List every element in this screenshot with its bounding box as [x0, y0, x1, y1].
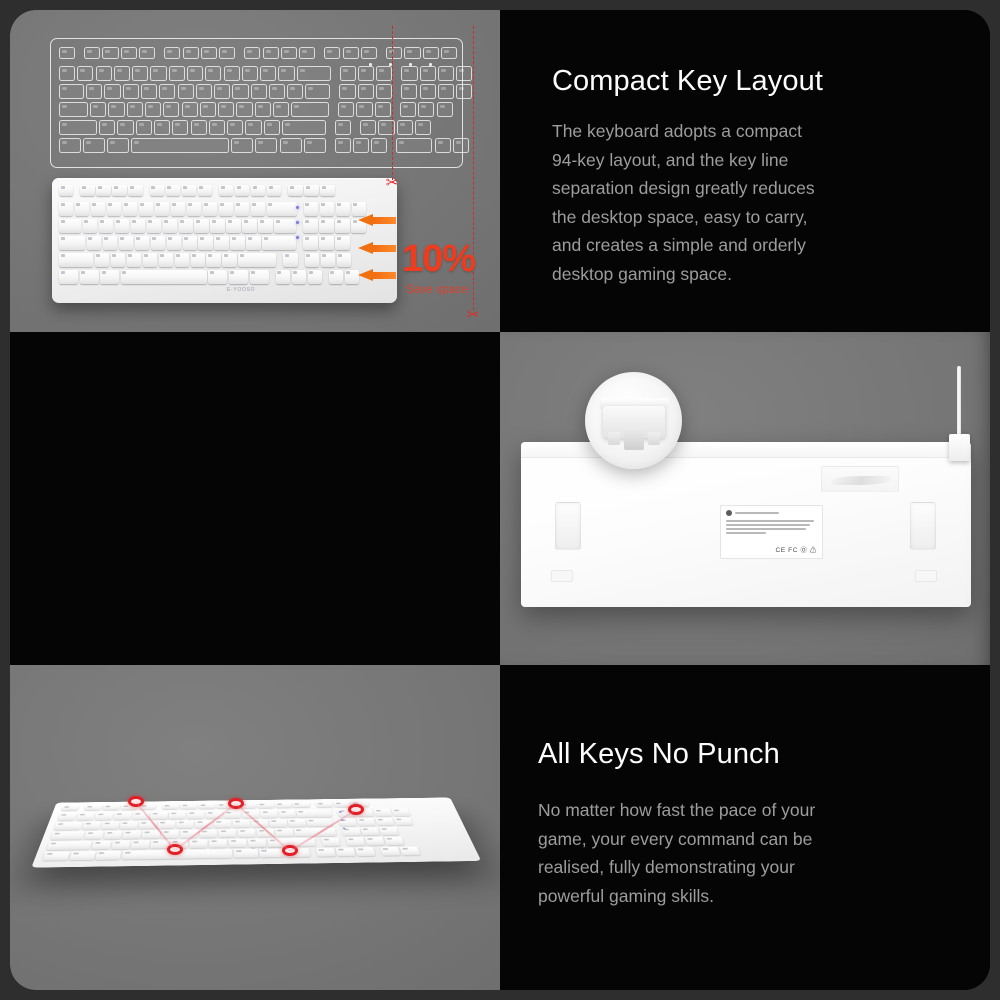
keyboard-key: [112, 185, 126, 196]
keyboard-key: [100, 270, 119, 284]
keyboard-key: [150, 812, 168, 820]
keyboard-key: [114, 66, 130, 81]
keyboard-key: [304, 202, 318, 216]
keyboard-indicator-led: [409, 63, 412, 66]
keyboard-key: [361, 47, 377, 59]
keyboard-key: [262, 236, 296, 250]
keyboard-key: [200, 102, 216, 117]
keyboard-key: [150, 185, 164, 196]
keyboard-key: [42, 852, 69, 861]
save-space-arrow-2: [358, 242, 396, 255]
keyboard-key: [103, 831, 122, 839]
keyboard-key: [183, 47, 199, 59]
keyboard-key: [131, 840, 150, 849]
keyboard-key: [135, 236, 149, 250]
keyboard-key: [420, 66, 436, 81]
label-text-line: [726, 528, 806, 530]
keyboard-key: [128, 185, 142, 196]
keyboard-key: [198, 803, 215, 809]
keyboard-key: [456, 66, 472, 81]
keyboard-key-row: [59, 102, 455, 117]
compact-body-line: 94-key layout, and the key line: [552, 146, 972, 175]
keyboard-key: [269, 84, 285, 99]
keyboard-key: [163, 102, 179, 117]
keyboard-key: [257, 803, 274, 808]
keyboard-key: [91, 202, 105, 216]
keyboard-key: [169, 812, 187, 820]
compact-body-line: desktop gaming space.: [552, 260, 972, 289]
rubber-foot-right: [915, 570, 937, 582]
keyboard-key: [365, 837, 385, 846]
scissors-icon-inner: ✂: [386, 176, 399, 191]
keyboard-key: [198, 236, 212, 250]
no-punch-body-line: realised, fully demonstrating your: [538, 853, 968, 882]
keyboard-key: [231, 138, 253, 153]
keyboard-key: [343, 47, 359, 59]
keyboard-key: [95, 851, 121, 860]
keyboard-key: [59, 66, 75, 81]
keyboard-key: [164, 47, 180, 59]
keyboard-key: [420, 84, 436, 99]
keyboard-key: [276, 270, 290, 284]
label-text-line: [726, 532, 766, 534]
compact-headline: Compact Key Layout: [552, 65, 972, 98]
keyboard-key: [187, 202, 201, 216]
keyboard-key: [267, 185, 281, 196]
keyboard-key: [222, 253, 236, 267]
keyboard-key: [435, 138, 451, 153]
keyboard-key: [205, 66, 221, 81]
keyboard-key-row: [59, 219, 367, 233]
keyboard-key: [219, 202, 233, 216]
keyboard-key: [235, 185, 249, 196]
keyboard-key: [360, 120, 376, 135]
keyboard-key: [77, 66, 93, 81]
compact-body: The keyboard adopts a compact 94-key lay…: [552, 117, 972, 288]
product-feature-infographic: E-YOOSO ✂ ✂ 10% Save space Compact Key L…: [10, 10, 990, 990]
keyboard-key: [123, 202, 137, 216]
keyboard-key: [142, 830, 161, 838]
keyboard-key: [335, 138, 351, 153]
keyboard-key: [324, 47, 340, 59]
keyboard-key: [99, 219, 113, 233]
keyboard-key: [147, 219, 161, 233]
keyboard-key: [214, 236, 228, 250]
keyboard-key: [287, 84, 303, 99]
keyboard-key: [396, 138, 432, 153]
compact-body-line: separation design greatly reduces: [552, 174, 972, 203]
keyboard-key-row: [42, 846, 422, 860]
keyboard-key: [131, 138, 229, 153]
keyboard-key: [342, 828, 361, 836]
perspective-keyboard-stage: E-YOOSO: [10, 665, 500, 990]
keyboard-key: [321, 253, 335, 267]
keyboard-key: [54, 822, 83, 830]
keyboard-key: [251, 84, 267, 99]
keyboard-key: [69, 851, 96, 860]
keyboard-key: [374, 809, 393, 817]
keyboard-key: [196, 84, 212, 99]
keyboard-key: [198, 185, 212, 196]
keyboard-key: [355, 847, 375, 856]
no-punch-body: No matter how fast the pace of your game…: [538, 796, 968, 910]
keyboard-key: [96, 66, 112, 81]
scissors-icon-outer: ✂: [467, 308, 480, 323]
keyboard-key: [101, 821, 120, 829]
keyboard-key: [219, 829, 236, 837]
keyboard-key: [238, 253, 276, 267]
keyboard-key: [179, 219, 193, 233]
panel-no-punch-text-cell: All Keys No Punch No matter how fast the…: [500, 665, 990, 990]
keyboard-key: [246, 236, 260, 250]
keyboard-key-row: [59, 202, 368, 216]
keyboard-key: [145, 102, 161, 117]
label-brand-icon: [726, 510, 732, 516]
keyboard-key: [226, 219, 240, 233]
keyboard-key: [291, 102, 329, 117]
keyboard-key: [210, 219, 224, 233]
keyboard-key: [244, 47, 260, 59]
keyboard-key: [319, 219, 333, 233]
keyboard-key: [86, 84, 102, 99]
keyboard-key: [316, 848, 336, 857]
keyboard-key: [169, 66, 185, 81]
keyboard-brand-mark: E-YOOSO: [227, 287, 255, 293]
keyboard-key: [84, 805, 102, 811]
keyboard-key: [418, 102, 434, 117]
keyboard-key: [107, 138, 129, 153]
keyboard-key: [99, 120, 115, 135]
keyboard-indicator-led: [429, 63, 432, 66]
keyboard-key: [394, 817, 414, 825]
keyboard-key: [305, 253, 319, 267]
keyboard-key: [336, 847, 356, 856]
keyboard-key: [299, 47, 315, 59]
keyboard-indicator-led: [296, 236, 299, 239]
keyboard-key: [115, 219, 129, 233]
keyboard-key: [267, 202, 297, 216]
keyboard-key: [104, 84, 120, 99]
keyboard-key: [209, 120, 225, 135]
keyboard-indicator-led: [296, 206, 299, 209]
keyboard-key: [119, 236, 133, 250]
keyboard-key: [87, 236, 101, 250]
keyboard-key: [415, 120, 431, 135]
keyboard-key: [162, 804, 179, 810]
keyboard-key: [273, 102, 289, 117]
keyboard-key: [107, 202, 121, 216]
keyboard-key: [90, 102, 106, 117]
keyboard-key-row: [59, 185, 336, 196]
keyboard-key: [321, 838, 340, 847]
keyboard-key: [400, 102, 416, 117]
keyboard-key: [194, 219, 208, 233]
keyboard-key: [338, 102, 354, 117]
keyboard-key: [75, 202, 89, 216]
keyboard-key: [108, 102, 124, 117]
keyboard-key: [346, 837, 366, 846]
keyboard-key: [59, 236, 85, 250]
keyboard-key: [227, 120, 243, 135]
keyboard-key: [236, 102, 252, 117]
keyboard-key: [159, 253, 173, 267]
keyboard-key: [401, 84, 417, 99]
keyboard-key: [233, 820, 250, 828]
keyboard-key: [229, 270, 248, 284]
keyboard-key: [453, 138, 469, 153]
keyboard-key: [219, 185, 233, 196]
keyboard-key: [404, 47, 420, 59]
keyboard-key: [59, 84, 84, 99]
keyboard-key: [206, 253, 220, 267]
keyboard-key: [95, 812, 114, 820]
save-space-arrow-3: [358, 269, 396, 282]
keyboard-key: [178, 84, 194, 99]
keyboard-key: [191, 120, 207, 135]
keyboard-key: [251, 185, 265, 196]
keyboard-key: [59, 202, 73, 216]
keyboard-key: [167, 236, 181, 250]
keyboard-key: [293, 802, 310, 807]
keyboard-key: [380, 847, 401, 856]
keyboard-key: [339, 84, 355, 99]
keyboard-key: [183, 236, 197, 250]
keyboard-key: [441, 47, 457, 59]
compact-keyboard-illustration: E-YOOSO: [52, 178, 397, 303]
keyboard-key: [82, 822, 101, 830]
keyboard-key: [250, 270, 269, 284]
keyboard-key: [163, 219, 177, 233]
keyboard-key: [375, 818, 394, 826]
keyboard-key: [157, 821, 175, 829]
keyboard-key: [136, 120, 152, 135]
label-text-line: [726, 520, 814, 522]
keyboard-key: [59, 253, 93, 267]
keyboard-key: [278, 66, 294, 81]
keyboard-key: [209, 839, 227, 848]
keyboard-key: [59, 138, 81, 153]
keyboard-key: [132, 66, 148, 81]
keyboard-key: [59, 219, 81, 233]
keyboard-key: [371, 138, 387, 153]
keyboard-key: [182, 102, 198, 117]
keyboard-key: [264, 120, 280, 135]
certification-marks: CE FC Ⓞ ⚠: [775, 544, 817, 554]
keyboard-key: [103, 236, 117, 250]
keyboard-key: [91, 841, 111, 850]
keyboard-key: [275, 828, 293, 836]
keyboard-key: [120, 821, 139, 829]
keyboard-key: [401, 66, 417, 81]
keyboard-key: [392, 809, 411, 817]
keyboard-key: [397, 120, 413, 135]
keyboard-key: [238, 829, 256, 837]
keyboard-key: [281, 47, 297, 59]
compact-body-line: and creates a simple and orderly: [552, 231, 972, 260]
keyboard-key: [80, 270, 99, 284]
keyboard-key: [155, 202, 169, 216]
keyboard-key: [139, 202, 153, 216]
keyboard-key: [166, 185, 180, 196]
keyboard-key: [320, 202, 334, 216]
keyboard-key: [111, 253, 125, 267]
keyboard-key: [361, 827, 381, 835]
keyboard-key: [303, 236, 317, 250]
keyboard-key: [248, 839, 266, 848]
keyboard-key: [379, 827, 399, 835]
keyboard-key: [335, 120, 351, 135]
keyboard-key: [242, 219, 256, 233]
rubber-foot-left: [551, 570, 573, 582]
keyboard-key: [245, 120, 261, 135]
keyboard-key-row: [59, 236, 351, 250]
keyboard-key: [214, 820, 231, 828]
keyboard-key: [224, 811, 241, 819]
keyboard-key: [283, 253, 297, 267]
panel-compact-image: E-YOOSO ✂ ✂ 10% Save space: [10, 10, 500, 332]
keyboard-key: [127, 102, 143, 117]
keyboard-key: [329, 270, 343, 284]
keyboard-key: [304, 185, 318, 196]
keyboard-key: [305, 84, 330, 99]
keyboard-key-row: [59, 138, 471, 153]
keyboard-key: [274, 219, 296, 233]
keyboard-key: [171, 202, 185, 216]
keyboard-key: [235, 202, 249, 216]
keyboard-key: [131, 219, 145, 233]
foot-support-left: [555, 502, 581, 550]
foot-support-magnifier-callout: [585, 372, 682, 469]
keyboard-key: [111, 840, 131, 849]
keyboard-key: [190, 839, 208, 848]
keyboard-key: [117, 120, 133, 135]
keyboard-key: [84, 47, 100, 59]
keyboard-key: [50, 831, 84, 840]
keyboard-key: [384, 837, 404, 846]
keyboard-key: [229, 839, 247, 848]
keyboard-key: [230, 236, 244, 250]
keyboard-key: [182, 185, 196, 196]
panel-compact-text-cell: Compact Key Layout The keyboard adopts a…: [500, 10, 990, 332]
keyboard-key: [199, 829, 217, 837]
keyboard-key: [400, 846, 421, 855]
keyboard-key: [150, 66, 166, 81]
keyboard-key: [386, 47, 402, 59]
keyboard-key: [357, 818, 376, 826]
keyboard-key: [187, 811, 204, 819]
keyboard-key: [315, 802, 332, 807]
keyboard-key: [180, 804, 197, 810]
keyboard-key: [242, 66, 258, 81]
keyboard-key: [376, 84, 392, 99]
keyboard-key: [102, 47, 118, 59]
keyboard-key: [103, 805, 121, 811]
keyboard-key: [376, 66, 392, 81]
keyboard-key: [304, 138, 326, 153]
keyboard-key: [208, 270, 227, 284]
keyboard-key: [143, 253, 157, 267]
keyboard-key: [280, 138, 302, 153]
keyboard-key: [59, 270, 78, 284]
keyboard-key-row: [59, 120, 433, 135]
keyboard-key: [260, 810, 277, 818]
keyboard-key: [375, 102, 391, 117]
keyboard-key: [96, 185, 110, 196]
keyboard-key: [121, 47, 137, 59]
perspective-keyboard-illustration: E-YOOSO: [31, 797, 481, 867]
keyboard-key: [292, 270, 306, 284]
keyboard-key: [335, 219, 349, 233]
keyboard-indicator-led: [296, 221, 299, 224]
keyboard-key: [201, 47, 217, 59]
keyboard-key: [255, 138, 277, 153]
save-space-arrow-1: [358, 214, 396, 227]
panel-foot-image: CE FC Ⓞ ⚠: [500, 332, 990, 665]
label-text-line: [726, 524, 810, 526]
keyboard-key: [353, 138, 369, 153]
keyboard-key: [251, 202, 265, 216]
keyboard-key: [122, 831, 141, 839]
keyboard-key: [59, 47, 75, 59]
keyboard-key-row: [59, 270, 361, 284]
keyboard-key: [438, 84, 454, 99]
product-spec-label: CE FC Ⓞ ⚠: [720, 505, 823, 559]
keyboard-key: [232, 84, 248, 99]
keyboard-key: [57, 813, 76, 821]
keyboard-key: [335, 236, 349, 250]
keyboard-key: [218, 102, 234, 117]
keyboard-key: [224, 66, 240, 81]
keyboard-key: [297, 66, 331, 81]
keyboard-key: [95, 253, 109, 267]
keyboard-key: [263, 47, 279, 59]
keyboard-key: [258, 219, 272, 233]
keyboard-key: [337, 253, 351, 267]
keyboard-key: [214, 84, 230, 99]
keyboard-key-row: [59, 253, 353, 267]
no-punch-text-block: All Keys No Punch No matter how fast the…: [538, 738, 968, 910]
keyboard-key: [282, 120, 326, 135]
keyboard-key: [59, 185, 73, 196]
keyboard-key: [219, 47, 235, 59]
keyboard-key: [141, 84, 157, 99]
keyboard-key: [259, 848, 284, 857]
label-logo-row: [726, 510, 817, 516]
keyboard-key: [456, 84, 472, 99]
keyboard-key: [288, 819, 306, 827]
keyboard-key: [320, 185, 334, 196]
keyboard-key: [255, 102, 271, 117]
keyboard-key: [437, 102, 453, 117]
compact-body-line: the desktop space, easy to carry,: [552, 203, 972, 232]
no-punch-body-line: game, your every command can be: [538, 825, 968, 854]
keyboard-key: [61, 805, 79, 811]
keyboard-key: [438, 66, 454, 81]
keyboard-key: [80, 185, 94, 196]
foot-support-right: [910, 502, 936, 550]
keyboard-key: [139, 47, 155, 59]
no-punch-headline: All Keys No Punch: [538, 738, 968, 771]
keyboard-key-row: [59, 47, 459, 59]
keyboard-key: [151, 236, 165, 250]
keyboard-key: [423, 47, 439, 59]
keyboard-key: [358, 84, 374, 99]
keyboard-key: [46, 841, 91, 850]
panel-foot-text-cell: Foot Support Design Adopts a single-stag…: [10, 332, 500, 665]
keyboard-key-row: [59, 66, 475, 81]
wireframe-keyboard-illustration: [50, 38, 463, 168]
keyboard-key: [84, 831, 104, 839]
